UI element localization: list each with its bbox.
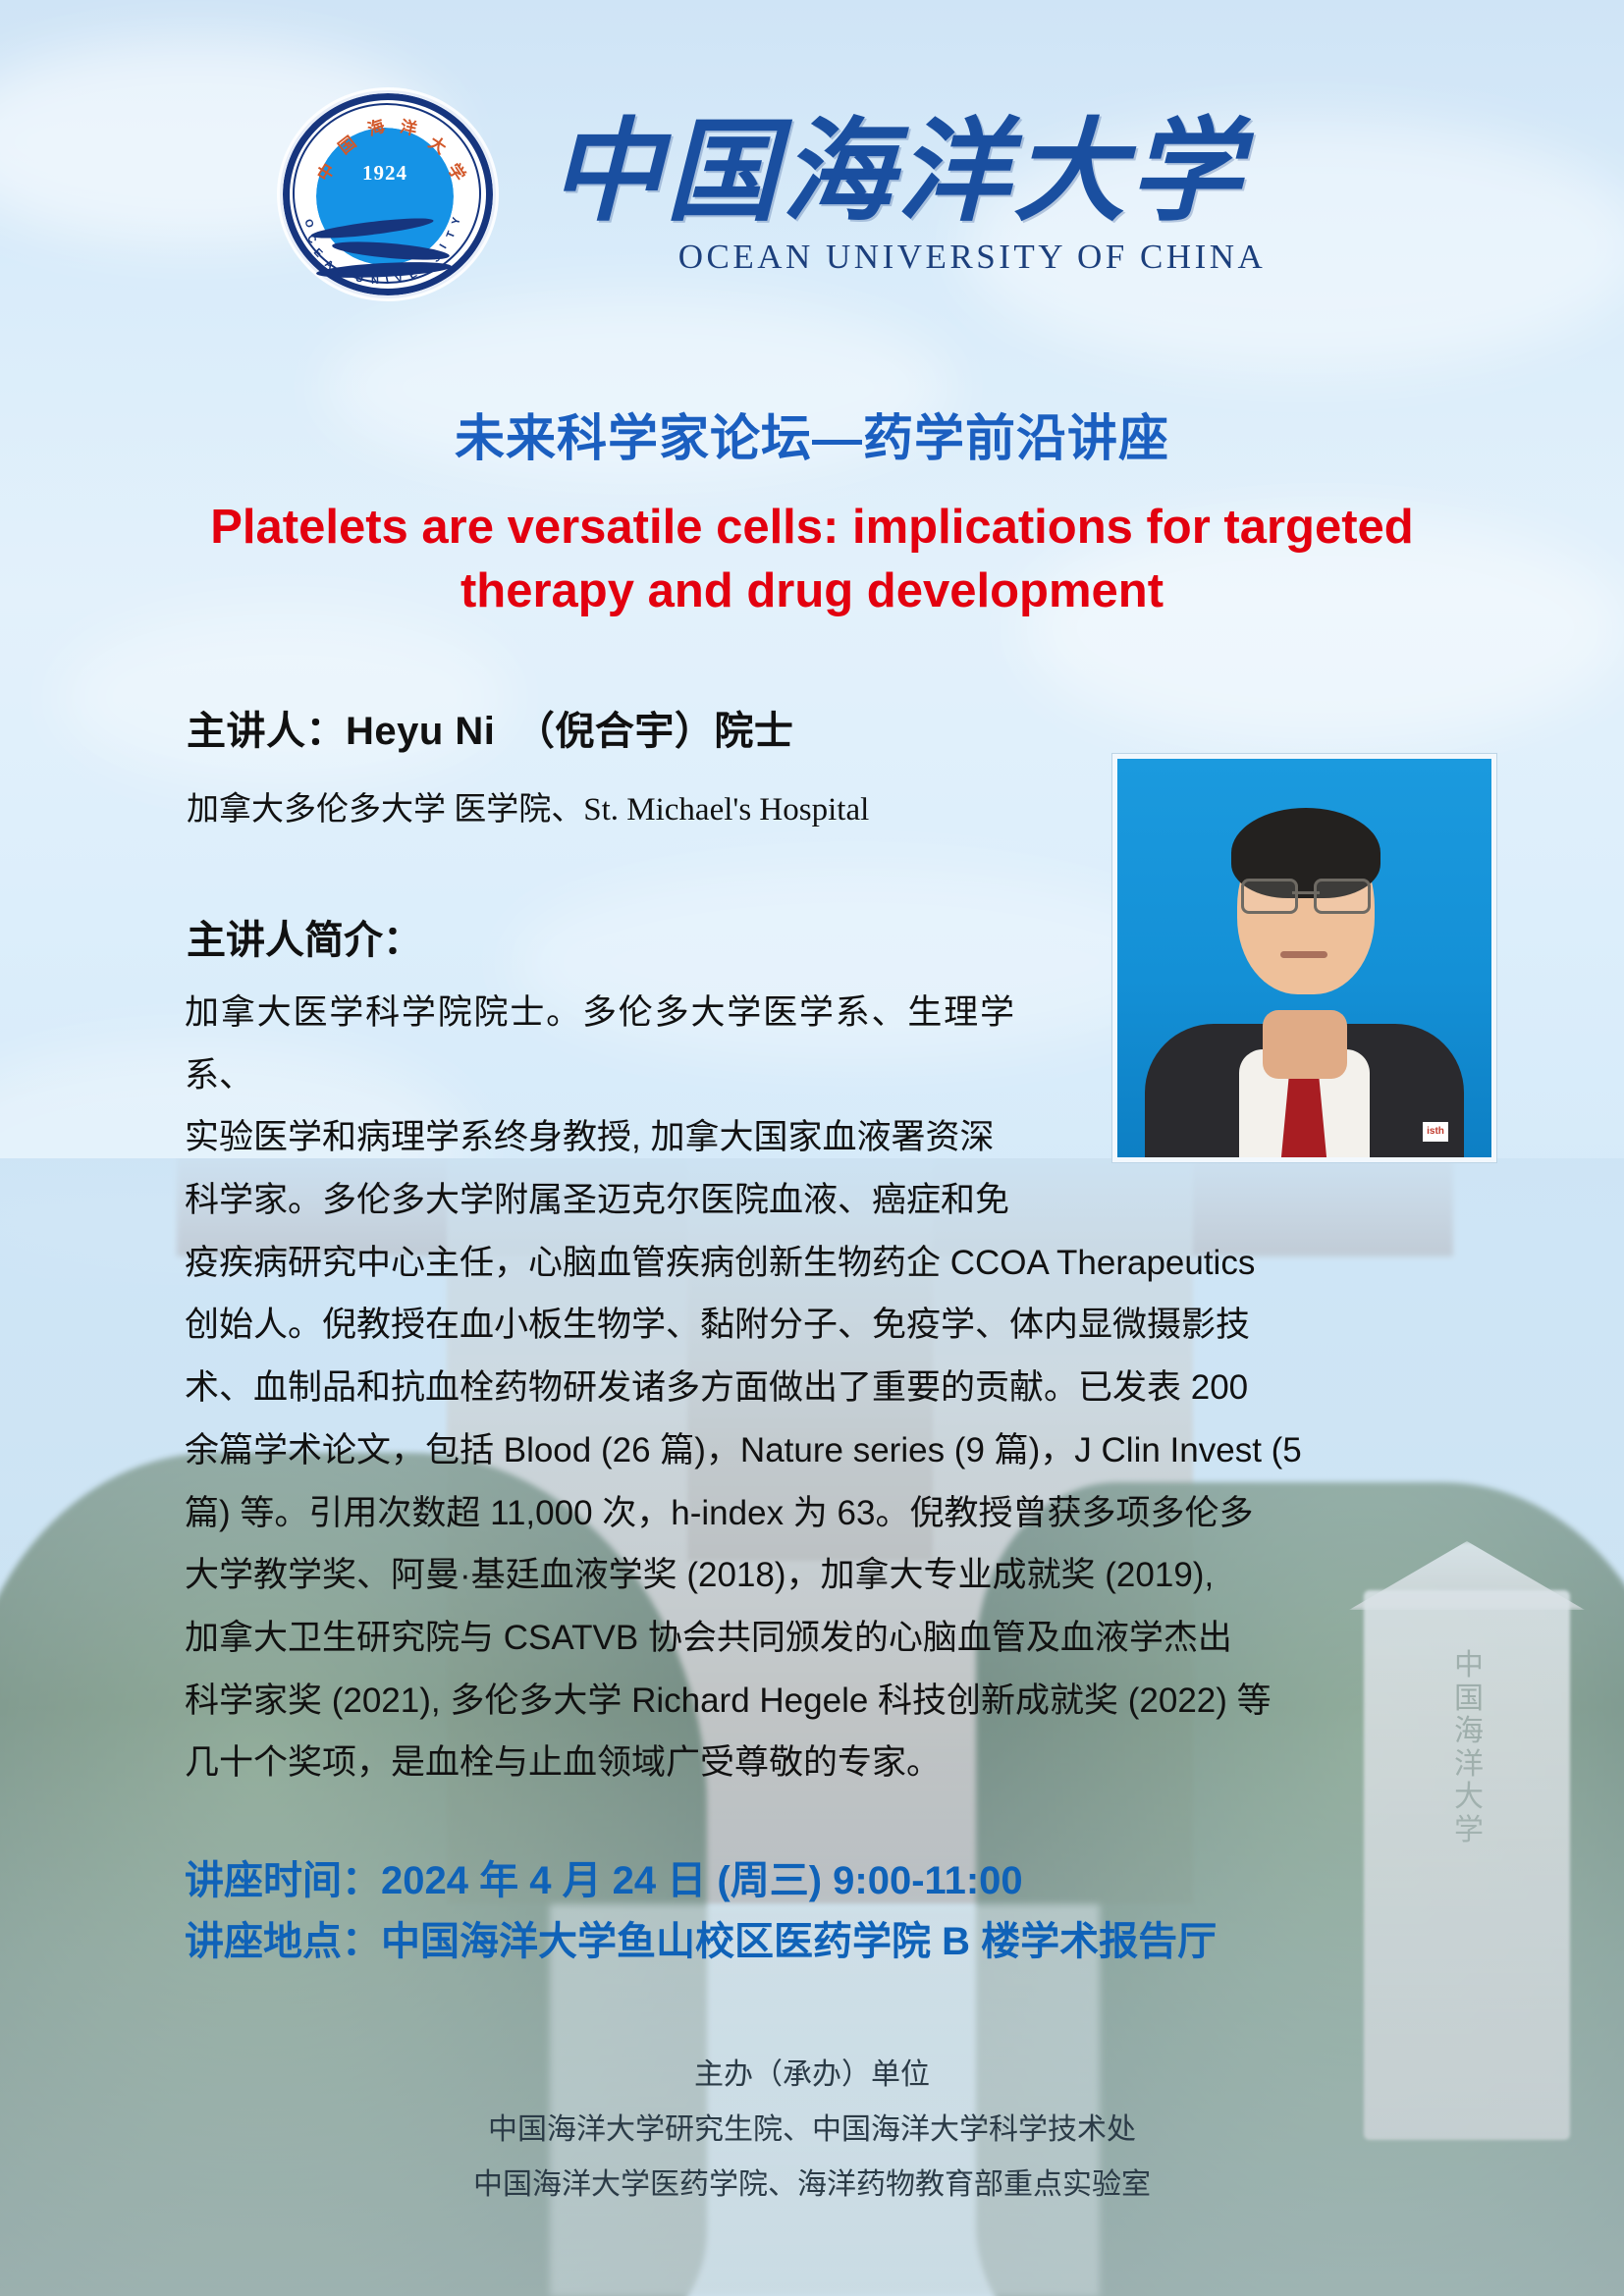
bio-line: 术、血制品和抗血栓药物研发诸多方面做出了重要的贡献。已发表 200 xyxy=(185,1357,1446,1419)
bio-line: 科学家奖 (2021), 多伦多大学 Richard Hegele 科技创新成就… xyxy=(185,1670,1446,1733)
bio-line: 创始人。倪教授在血小板生物学、黏附分子、免疫学、体内显微摄影技 xyxy=(185,1294,1446,1357)
poster-header: 1924 中 国 海 洋 大 学 O C E A N U N I V E xyxy=(0,84,1624,291)
portrait-mouth xyxy=(1280,951,1327,958)
lecture-poster: 中国海洋大学 1924 中 国 海 洋 大 学 O C E A N xyxy=(0,0,1624,2296)
emblem-english-arc: O C E A N U N I V E R S I T Y xyxy=(293,104,477,281)
bio-line: 篇) 等。引用次数超 11,000 次，h-index 为 63。倪教授曾获多项… xyxy=(185,1482,1446,1545)
speaker-name: 主讲人：Heyu Ni （倪合宇）院士 xyxy=(187,699,793,756)
event-details: 讲座时间：2024 年 4 月 24 日 (周三) 9:00-11:00 讲座地… xyxy=(185,1850,1461,1972)
event-location: 讲座地点：中国海洋大学鱼山校区医药学院 B 楼学术报告厅 xyxy=(185,1911,1461,1972)
bio-line: 加拿大卫生研究院与 CSATVB 协会共同颁发的心脑血管及血液学杰出 xyxy=(185,1607,1446,1670)
cloud-shape xyxy=(59,609,511,785)
bio-line: 实验医学和病理学系终身教授, 加拿大国家血液署资深 xyxy=(185,1106,1014,1169)
bio-line: 余篇学术论文，包括 Blood (26 篇)，Nature series (9 … xyxy=(185,1419,1446,1482)
poster-footer: 主办（承办）单位 中国海洋大学研究生院、中国海洋大学科学技术处 中国海洋大学医药… xyxy=(0,2047,1624,2212)
bio-text: 加拿大医学科学院院士。多伦多大学医学系、生理学系、 实验医学和病理学系终身教授,… xyxy=(185,982,1441,1794)
university-wordmark: 中国海洋大学 OCEAN UNIVERSITY OF CHINA xyxy=(550,79,1394,285)
host-label: 主办（承办）单位 xyxy=(0,2047,1624,2103)
bio-line: 大学教学奖、阿曼·基廷血液学奖 (2018)，加拿大专业成就奖 (2019), xyxy=(185,1544,1446,1607)
wordmark-chinese: 中国海洋大学 xyxy=(550,80,1394,242)
wordmark-english: OCEAN UNIVERSITY OF CHINA xyxy=(550,238,1394,277)
bio-line: 几十个奖项，是血栓与止血领域广受尊敬的专家。 xyxy=(185,1732,1446,1794)
bio-line: 疫疾病研究中心主任，心脑血管疾病创新生物药企 CCOA Therapeutics xyxy=(185,1232,1446,1295)
series-title: 未来科学家论坛—药学前沿讲座 xyxy=(0,398,1624,470)
portrait-glasses-icon xyxy=(1241,879,1371,908)
bio-line: 科学家。多伦多大学附属圣迈克尔医院血液、癌症和免 xyxy=(185,1169,1014,1232)
lecture-title-line2: therapy and drug development xyxy=(460,564,1164,617)
university-emblem-icon: 1924 中 国 海 洋 大 学 O C E A N U N I V E xyxy=(263,84,507,298)
host-organization: 中国海洋大学研究生院、中国海洋大学科学技术处 xyxy=(0,2103,1624,2158)
host-organization: 中国海洋大学医药学院、海洋药物教育部重点实验室 xyxy=(0,2158,1624,2213)
speaker-affiliation: 加拿大多伦多大学 医学院、St. Michael's Hospital xyxy=(187,782,869,829)
event-time: 讲座时间：2024 年 4 月 24 日 (周三) 9:00-11:00 xyxy=(185,1850,1461,1911)
lecture-title: Platelets are versatile cells: implicati… xyxy=(118,496,1506,622)
bio-line: 加拿大医学科学院院士。多伦多大学医学系、生理学系、 xyxy=(185,982,1014,1106)
bio-heading: 主讲人简介： xyxy=(187,908,422,965)
lecture-title-line1: Platelets are versatile cells: implicati… xyxy=(210,501,1414,554)
